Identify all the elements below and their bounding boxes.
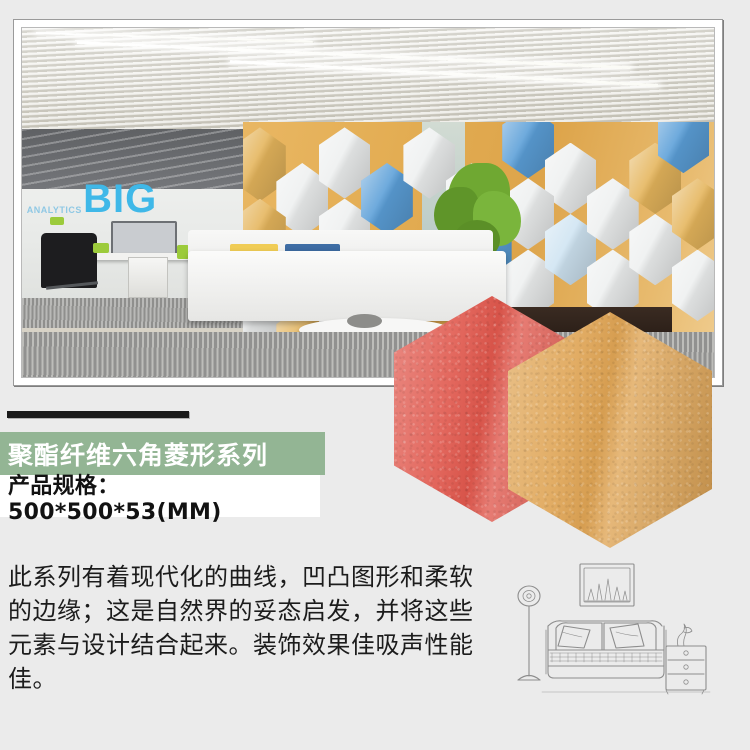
sofa (188, 251, 506, 321)
office-cabinet (128, 257, 168, 299)
product-promo-page: ANALYTICS BIG (0, 0, 750, 750)
framed-picture-icon (580, 564, 634, 606)
office-green-accent (50, 217, 64, 225)
table-object (347, 314, 382, 328)
product-spec-bar: 产品规格：500*500*53(MM) (0, 475, 320, 517)
product-spec-text: 产品规格：500*500*53(MM) (0, 468, 320, 525)
sofa-icon (546, 621, 666, 678)
desk-monitor (111, 221, 176, 255)
title-accent-bar (7, 411, 189, 418)
office-sign: BIG (83, 181, 157, 217)
nightstand-icon (666, 646, 706, 694)
series-title-text: 聚酯纤维六角菱形系列 (0, 436, 268, 472)
product-description: 此系列有着现代化的曲线，凹凸图形和柔软的边缘；这是自然界的妥态启发，并将这些元素… (8, 560, 478, 696)
vase-icon (677, 624, 692, 646)
floor-lamp-icon (518, 586, 540, 680)
office-chair (41, 233, 97, 289)
office-sign-sub: ANALYTICS (27, 205, 82, 215)
living-room-sketch (498, 558, 728, 718)
office-green-accent (93, 243, 109, 253)
